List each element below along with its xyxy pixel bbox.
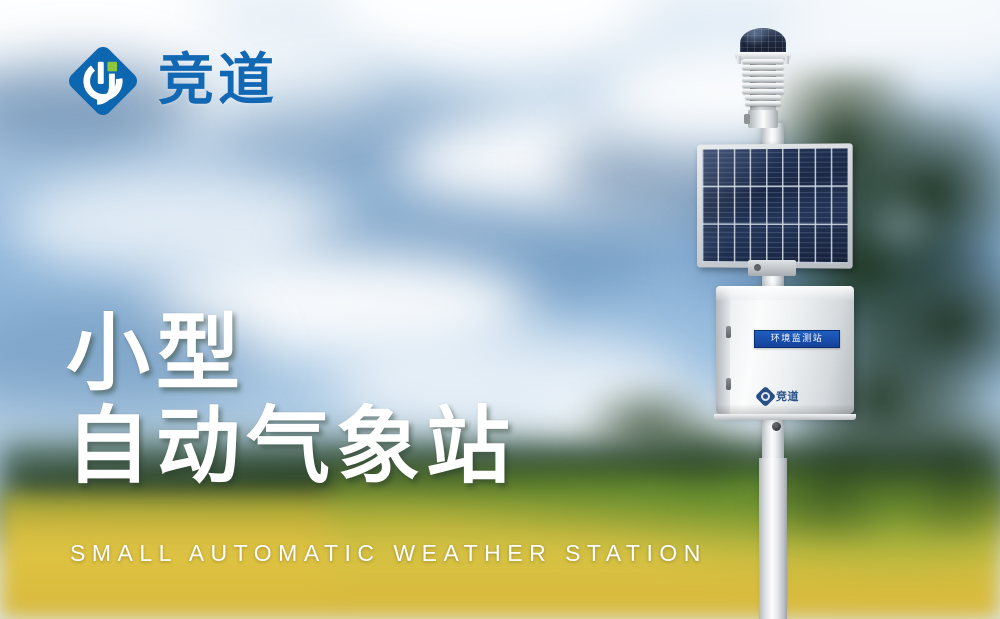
enclosure-latch [726,378,731,390]
brand-name: 竞道 [158,53,278,109]
headline-line-2: 自动气象站 [66,403,516,490]
shield-plate [742,89,784,94]
enclosure-brand-text: 竞道 [776,388,799,404]
jingdao-diamond-logo-icon [66,44,140,118]
shield-plate [742,77,784,82]
ultrasonic-weather-sensor-icon [740,28,786,54]
headline-subtitle: SMALL AUTOMATIC WEATHER STATION [70,540,707,567]
enclosure-mount-bolt [772,422,781,431]
enclosure-hinge-edge [716,286,730,414]
sensor-rim [736,52,790,59]
enclosure-base-plate [714,414,856,420]
mounting-pole-lower-icon [759,458,787,619]
sensor-cable-gland [744,114,750,124]
sensor-arm [737,56,741,64]
enclosure-shadow [716,404,854,414]
solar-panel-frame [697,143,853,268]
cloud-blob [330,0,650,70]
radiation-shield-icon [742,59,784,111]
shield-plate [742,71,784,76]
banner-canvas: 环境监测站 竞道 竞道 小型 自动气象站 SMALL AUTO [0,0,1000,619]
shield-plate [742,83,784,88]
enclosure-brand-logo: 竞道 [758,388,799,404]
equipment-enclosure: 环境监测站 竞道 [716,286,854,414]
brand-logo: 竞道 [66,44,278,118]
enclosure-name-plate-text: 环境监测站 [771,335,824,344]
solar-panel-cells [702,148,848,263]
sensor-neck [748,110,778,128]
weather-station-equipment: 环境监测站 竞道 [690,28,870,619]
shield-plate [745,95,781,100]
solar-panel-icon [696,144,852,268]
enclosure-latch [726,326,731,338]
shield-plate [745,101,781,106]
mount-bolt [754,264,761,271]
sensor-arm [785,56,789,64]
shield-plate [742,59,784,64]
headline-line-1: 小型 [66,310,516,397]
enclosure-top-face [716,286,854,300]
headline-block: 小型 自动气象站 [66,310,516,489]
enclosure-name-plate: 环境监测站 [754,330,840,348]
shield-plate [742,65,784,70]
